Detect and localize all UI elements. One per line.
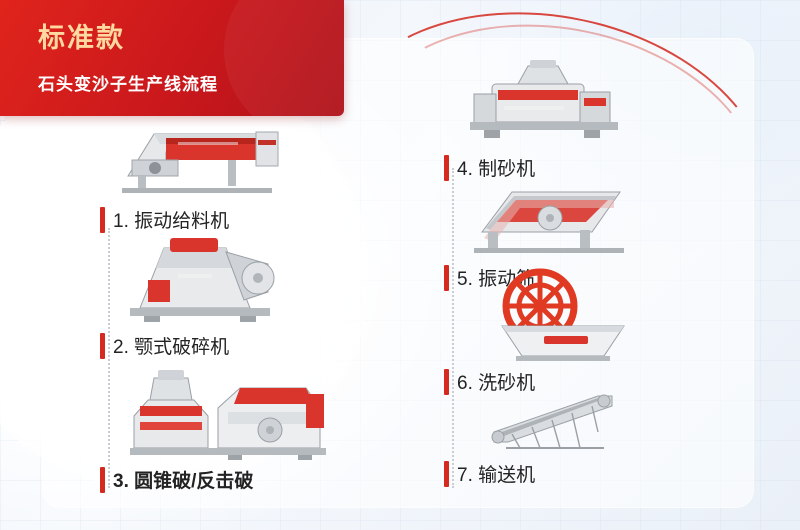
step-1-label-row: 1. 振动给料机 [100, 206, 288, 233]
step-6[interactable]: 6. 洗砂机 [444, 268, 638, 395]
cone-and-impact-crusher-icon [110, 360, 330, 460]
step-7[interactable]: 7. 输送机 [444, 388, 626, 487]
step-2-accent-bar [100, 333, 105, 359]
step-4[interactable]: 4. 制砂机 [444, 58, 628, 181]
flowchart-poster: 标准款 石头变沙子生产线流程 1. 振动给料 [0, 0, 800, 530]
step-4-label-row: 4. 制砂机 [444, 154, 628, 181]
banner-subtitle: 石头变沙子生产线流程 [38, 70, 344, 95]
step-4-label: 4. 制砂机 [457, 154, 535, 181]
step-3-accent-bar [100, 467, 105, 493]
belt-conveyor-icon [486, 388, 626, 452]
vibrating-screen-icon [464, 178, 642, 256]
jaw-crusher-icon [118, 230, 298, 322]
step-3-label-row: 3. 圆锥破/反击破 [100, 466, 330, 493]
step-2-label: 2. 颚式破碎机 [113, 332, 229, 359]
vibrating-feeder-icon [108, 118, 288, 196]
step-7-label-row: 7. 输送机 [444, 460, 626, 487]
step-1-accent-bar [100, 207, 105, 233]
step-7-label: 7. 输送机 [457, 460, 535, 487]
step-2-label-row: 2. 颚式破碎机 [100, 332, 298, 359]
step-4-accent-bar [444, 155, 449, 181]
step-2[interactable]: 2. 颚式破碎机 [100, 230, 298, 359]
banner-title: 标准款 [38, 24, 344, 54]
step-3-label: 3. 圆锥破/反击破 [113, 466, 253, 493]
header-banner: 标准款 石头变沙子生产线流程 [0, 0, 344, 116]
sand-washer-icon [488, 268, 638, 362]
step-7-accent-bar [444, 461, 449, 487]
step-1-label: 1. 振动给料机 [113, 206, 229, 233]
sand-making-machine-icon [458, 58, 628, 144]
step-3[interactable]: 3. 圆锥破/反击破 [100, 360, 330, 493]
step-1[interactable]: 1. 振动给料机 [100, 118, 288, 233]
